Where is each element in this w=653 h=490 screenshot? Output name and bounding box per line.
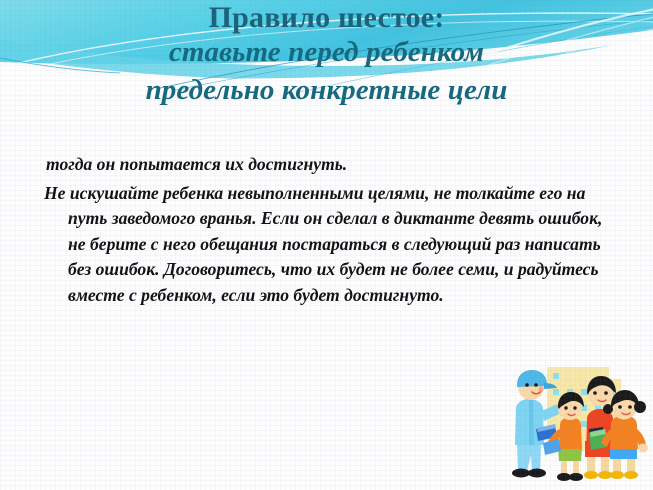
slide-title: Правило шестое: ставьте перед ребенком п… (0, 0, 653, 110)
body-paragraph-1: тогда он попытается их достигнуть. (34, 152, 614, 178)
title-line-1: Правило шестое: (0, 0, 653, 34)
title-line-2: ставьте перед ребенком (0, 34, 653, 72)
body-paragraph-2: Не искушайте ребенка невыполненными целя… (34, 181, 616, 309)
slide-canvas: Правило шестое: ставьте перед ребенком п… (0, 0, 653, 490)
title-line-3: предельно конкретные цели (0, 72, 653, 110)
slide-body: тогда он попытается их достигнуть. Не ис… (34, 152, 614, 309)
clipart-man-and-children-icon (503, 363, 653, 490)
